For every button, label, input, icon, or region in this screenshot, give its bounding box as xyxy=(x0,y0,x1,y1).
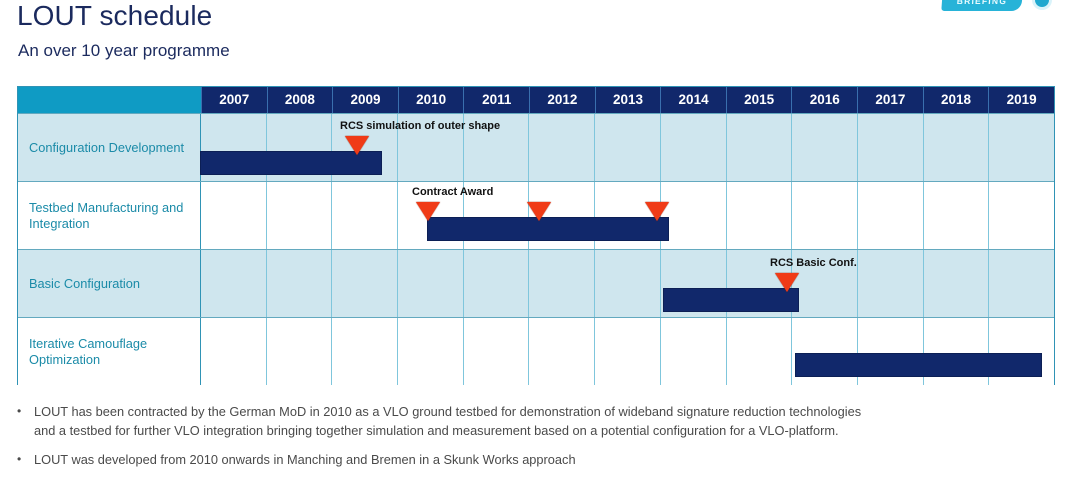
grid-cell xyxy=(201,250,266,317)
gantt-bar-testbed-manufacturing xyxy=(428,218,668,240)
grid-cell xyxy=(660,318,726,385)
milestone-label-rcs-basic-conf: RCS Basic Conf. xyxy=(770,257,857,269)
grid-cell xyxy=(528,114,594,181)
milestone-marker-rcs-basic-conf xyxy=(775,273,799,292)
grid-cell xyxy=(397,318,463,385)
grid-cell xyxy=(791,182,857,249)
list-item: • LOUT has been contracted by the German… xyxy=(17,402,1057,440)
grid-cell xyxy=(463,250,529,317)
year-header-2008: 2008 xyxy=(267,87,333,113)
grid-cell xyxy=(988,182,1054,249)
year-header-2018: 2018 xyxy=(923,87,989,113)
year-header-2019: 2019 xyxy=(988,87,1054,113)
table-row: Iterative Camouflage Optimization xyxy=(18,317,1054,385)
grid-cell xyxy=(988,114,1054,181)
page-subtitle: An over 10 year programme xyxy=(18,41,230,61)
row-label-testbed-manufacturing-and-integration: Testbed Manufacturing and Integration xyxy=(18,182,201,249)
year-header-2012: 2012 xyxy=(529,87,595,113)
grid-cell xyxy=(266,182,332,249)
row-track-testbed-manufacturing-and-integration: Contract Award xyxy=(201,182,1054,249)
bullet-list: • LOUT has been contracted by the German… xyxy=(17,402,1057,479)
year-header-2016: 2016 xyxy=(791,87,857,113)
gantt-bar-basic-configuration xyxy=(664,289,798,311)
bullet-marker-icon: • xyxy=(17,402,34,440)
grid-cell xyxy=(923,182,989,249)
gantt-chart: 2007 2008 2009 2010 2011 2012 2013 2014 … xyxy=(17,86,1055,385)
milestone-marker-contract-award xyxy=(416,202,440,221)
row-track-basic-configuration: RCS Basic Conf. xyxy=(201,250,1054,317)
grid-cell xyxy=(726,318,792,385)
year-header-2007: 2007 xyxy=(201,87,267,113)
grid-cell xyxy=(988,250,1054,317)
table-row: Configuration Development RCS simulation… xyxy=(18,113,1054,181)
briefing-badge: BRIEFING xyxy=(941,0,1022,11)
grid-cell xyxy=(331,182,397,249)
grid-cell xyxy=(726,182,792,249)
gantt-header-row: 2007 2008 2009 2010 2011 2012 2013 2014 … xyxy=(18,87,1054,113)
bullet-1-line-1: LOUT has been contracted by the German M… xyxy=(34,404,861,419)
row-label-iterative-camouflage-optimization: Iterative Camouflage Optimization xyxy=(18,318,201,385)
grid-cell xyxy=(331,318,397,385)
bullet-marker-icon: • xyxy=(17,450,34,469)
grid-cell xyxy=(660,114,726,181)
row-track-configuration-development: RCS simulation of outer shape xyxy=(201,114,1054,181)
page-title: LOUT schedule xyxy=(17,0,212,32)
year-header-2013: 2013 xyxy=(595,87,661,113)
milestone-marker-2 xyxy=(527,202,551,221)
grid-cell xyxy=(660,182,726,249)
grid-cell xyxy=(528,250,594,317)
bullet-text-1: LOUT has been contracted by the German M… xyxy=(34,402,1057,440)
grid-cell xyxy=(594,318,660,385)
grid-cell xyxy=(201,182,266,249)
circle-dot-icon xyxy=(1035,0,1049,7)
grid-cell xyxy=(397,250,463,317)
milestone-label-contract-award: Contract Award xyxy=(412,186,493,198)
grid-cell xyxy=(791,114,857,181)
year-header-2014: 2014 xyxy=(660,87,726,113)
grid-cell xyxy=(266,318,332,385)
table-row: Testbed Manufacturing and Integration Co… xyxy=(18,181,1054,249)
year-header-2009: 2009 xyxy=(332,87,398,113)
milestone-marker-3 xyxy=(645,202,669,221)
grid-cell xyxy=(857,182,923,249)
grid-cell xyxy=(201,318,266,385)
grid-cell xyxy=(726,114,792,181)
bullet-text-2: LOUT was developed from 2010 onwards in … xyxy=(34,450,1057,469)
grid-cell xyxy=(594,114,660,181)
grid-cell xyxy=(857,114,923,181)
briefing-badge-group: BRIEFING xyxy=(942,0,1072,21)
grid-cell xyxy=(923,114,989,181)
bullet-1-line-2: and a testbed for further VLO integratio… xyxy=(34,421,1057,440)
gantt-header-label-cell xyxy=(18,87,201,113)
grid-cell xyxy=(266,250,332,317)
year-header-2017: 2017 xyxy=(857,87,923,113)
grid-cell xyxy=(463,318,529,385)
milestone-label-rcs-simulation: RCS simulation of outer shape xyxy=(340,120,500,132)
table-row: Basic Configuration RCS Basic Conf. xyxy=(18,249,1054,317)
list-item: • LOUT was developed from 2010 onwards i… xyxy=(17,450,1057,469)
year-header-2010: 2010 xyxy=(398,87,464,113)
row-label-configuration-development: Configuration Development xyxy=(18,114,201,181)
gantt-bar-configuration-development xyxy=(201,152,381,174)
year-header-2011: 2011 xyxy=(463,87,529,113)
gantt-bar-iterative-camouflage-optimization xyxy=(796,354,1041,376)
year-header-2015: 2015 xyxy=(726,87,792,113)
row-track-iterative-camouflage-optimization xyxy=(201,318,1054,385)
milestone-marker-rcs-simulation xyxy=(345,136,369,155)
grid-cell xyxy=(594,250,660,317)
grid-cell xyxy=(857,250,923,317)
bullet-2-line-1: LOUT was developed from 2010 onwards in … xyxy=(34,452,576,467)
grid-cell xyxy=(923,250,989,317)
grid-cell xyxy=(528,318,594,385)
row-label-basic-configuration: Basic Configuration xyxy=(18,250,201,317)
grid-cell xyxy=(331,250,397,317)
